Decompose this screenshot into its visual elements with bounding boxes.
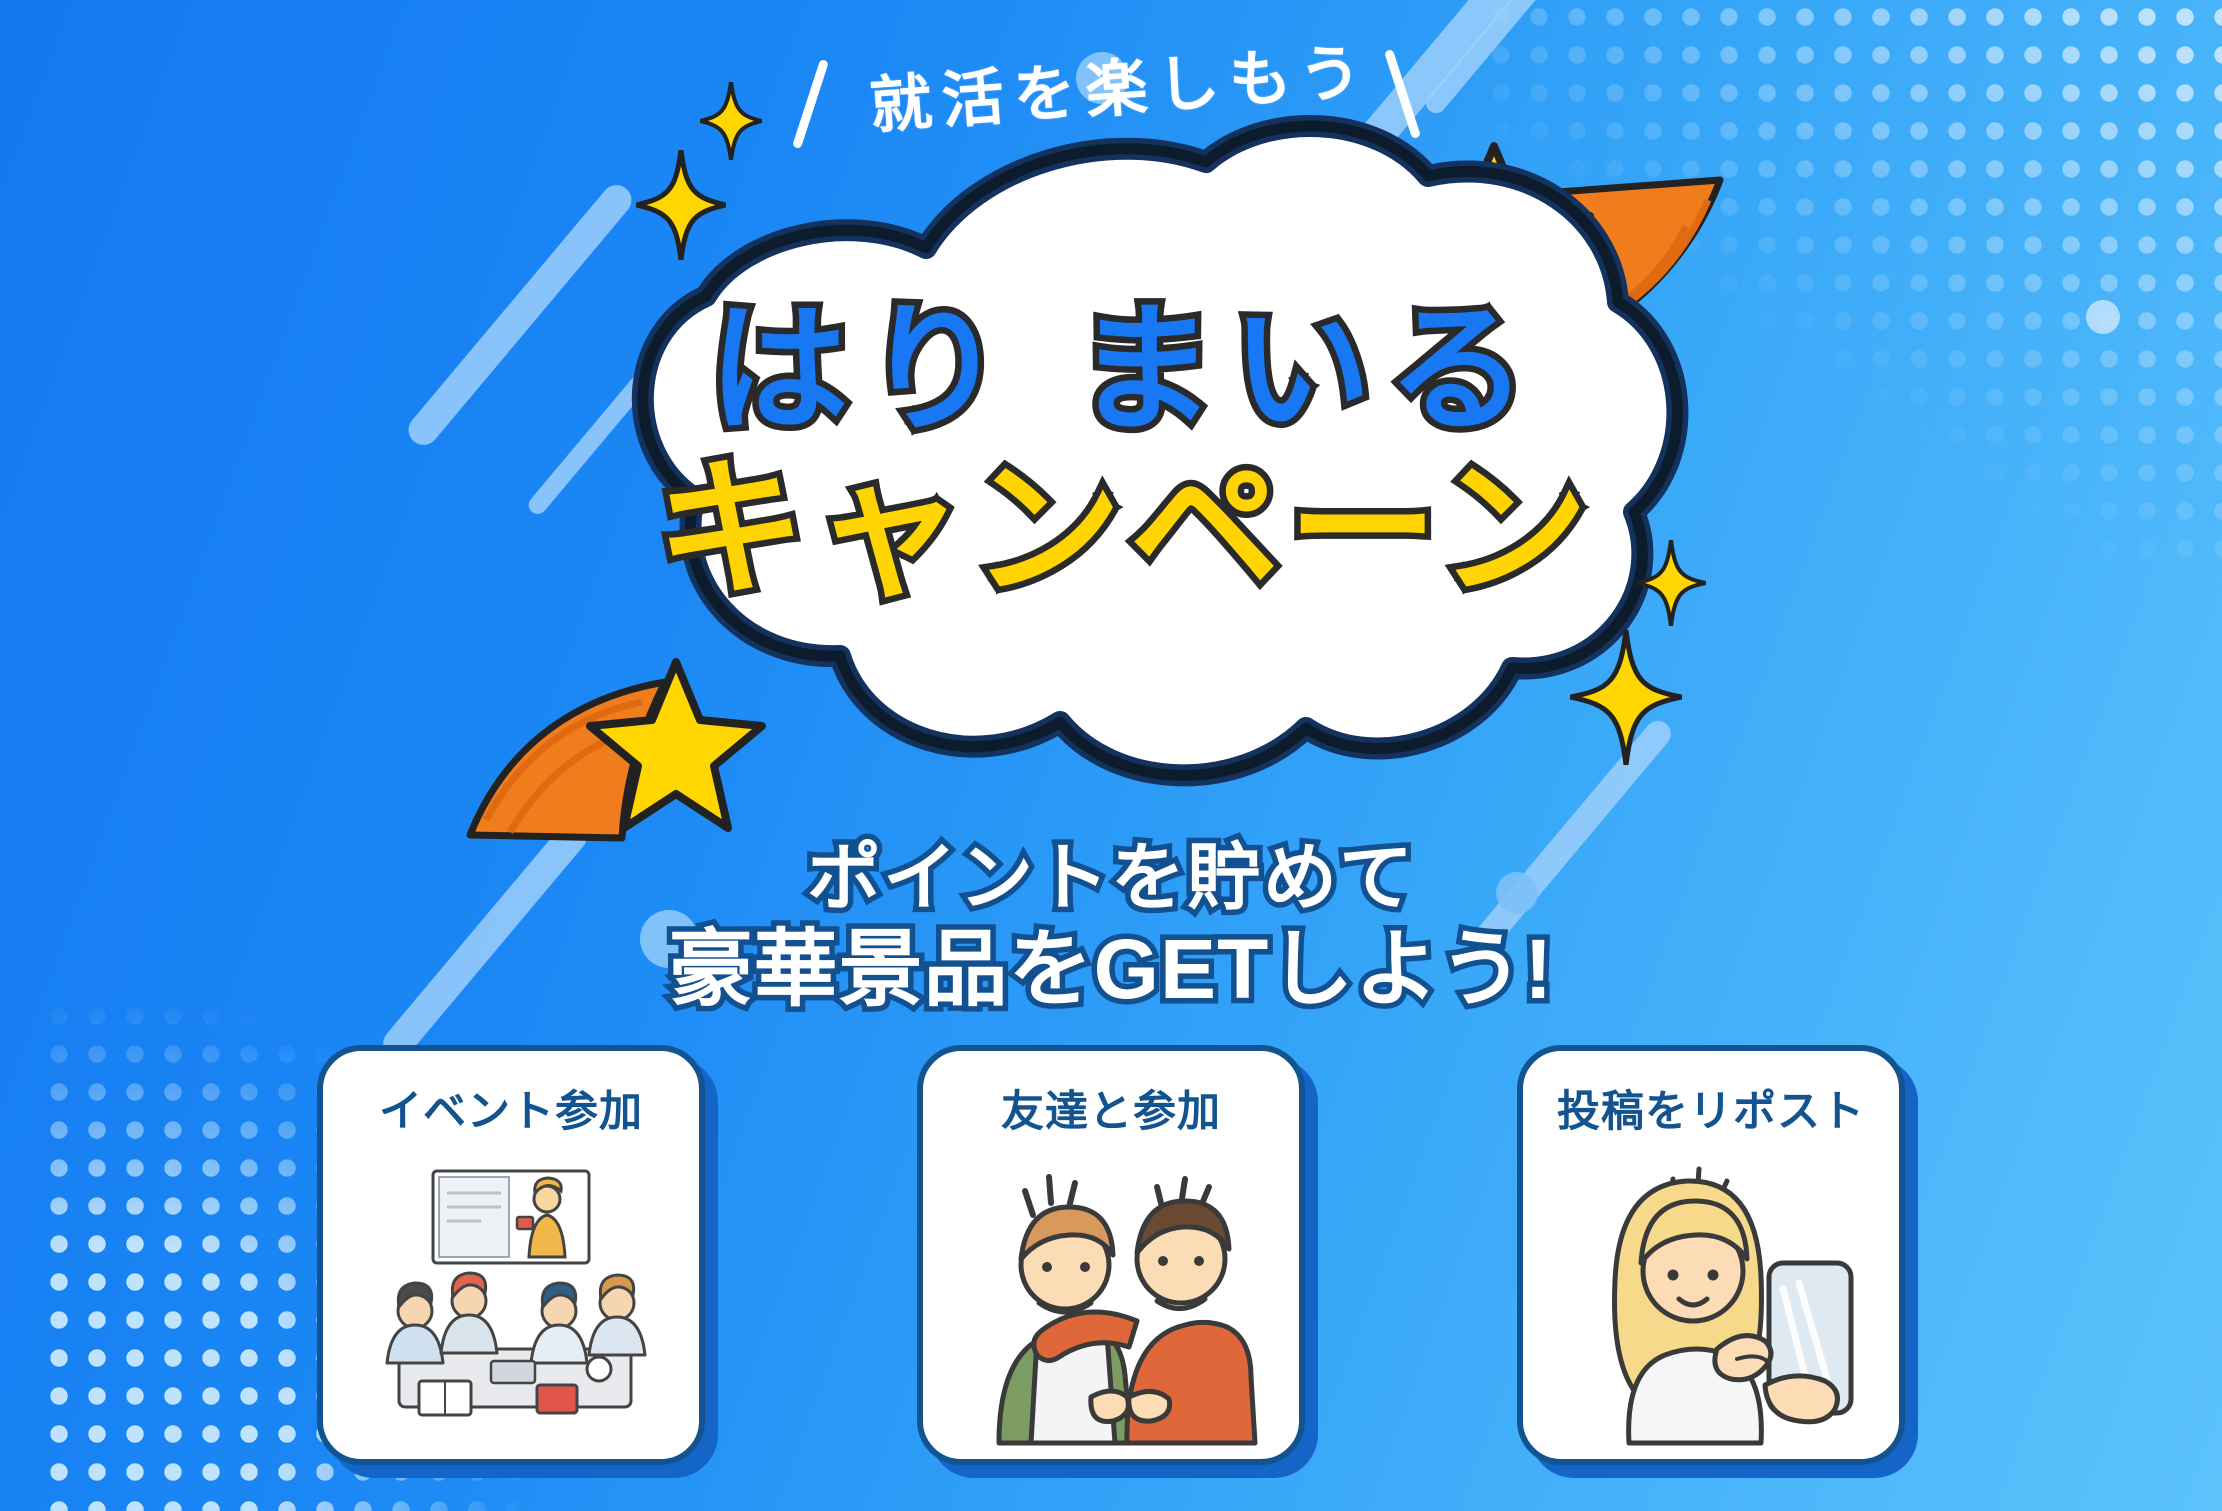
- card-repost[interactable]: 投稿をリポスト: [1517, 1045, 1905, 1465]
- two-friends-illustration-icon: [941, 1153, 1281, 1453]
- benefit-cards: イベント参加: [0, 1045, 2222, 1465]
- card-title: イベント参加: [379, 1077, 643, 1139]
- bubble-icon: [640, 910, 698, 968]
- subtitle-line-1: ポイントを貯めて: [0, 838, 2222, 918]
- card-event-participation[interactable]: イベント参加: [317, 1045, 705, 1465]
- bubble-icon: [2086, 300, 2120, 334]
- sparkle-star-icon: [700, 82, 762, 165]
- sparkle-star-icon: [636, 150, 726, 265]
- seminar-room-illustration-icon: [341, 1153, 681, 1453]
- woman-with-smartphone-illustration-icon: [1541, 1153, 1881, 1453]
- sparkle-star-icon: [1570, 630, 1682, 770]
- bubble-icon: [1496, 872, 1538, 914]
- speech-cloud-shape-icon: [566, 120, 1686, 820]
- card-title: 友達と参加: [1001, 1077, 1221, 1139]
- campaign-banner: 就活を楽しもう はり まいる キャンペーン: [0, 0, 2222, 1511]
- card-join-with-friend[interactable]: 友達と参加: [917, 1045, 1305, 1465]
- sparkle-star-icon: [1636, 540, 1706, 631]
- card-title: 投稿をリポスト: [1557, 1077, 1865, 1139]
